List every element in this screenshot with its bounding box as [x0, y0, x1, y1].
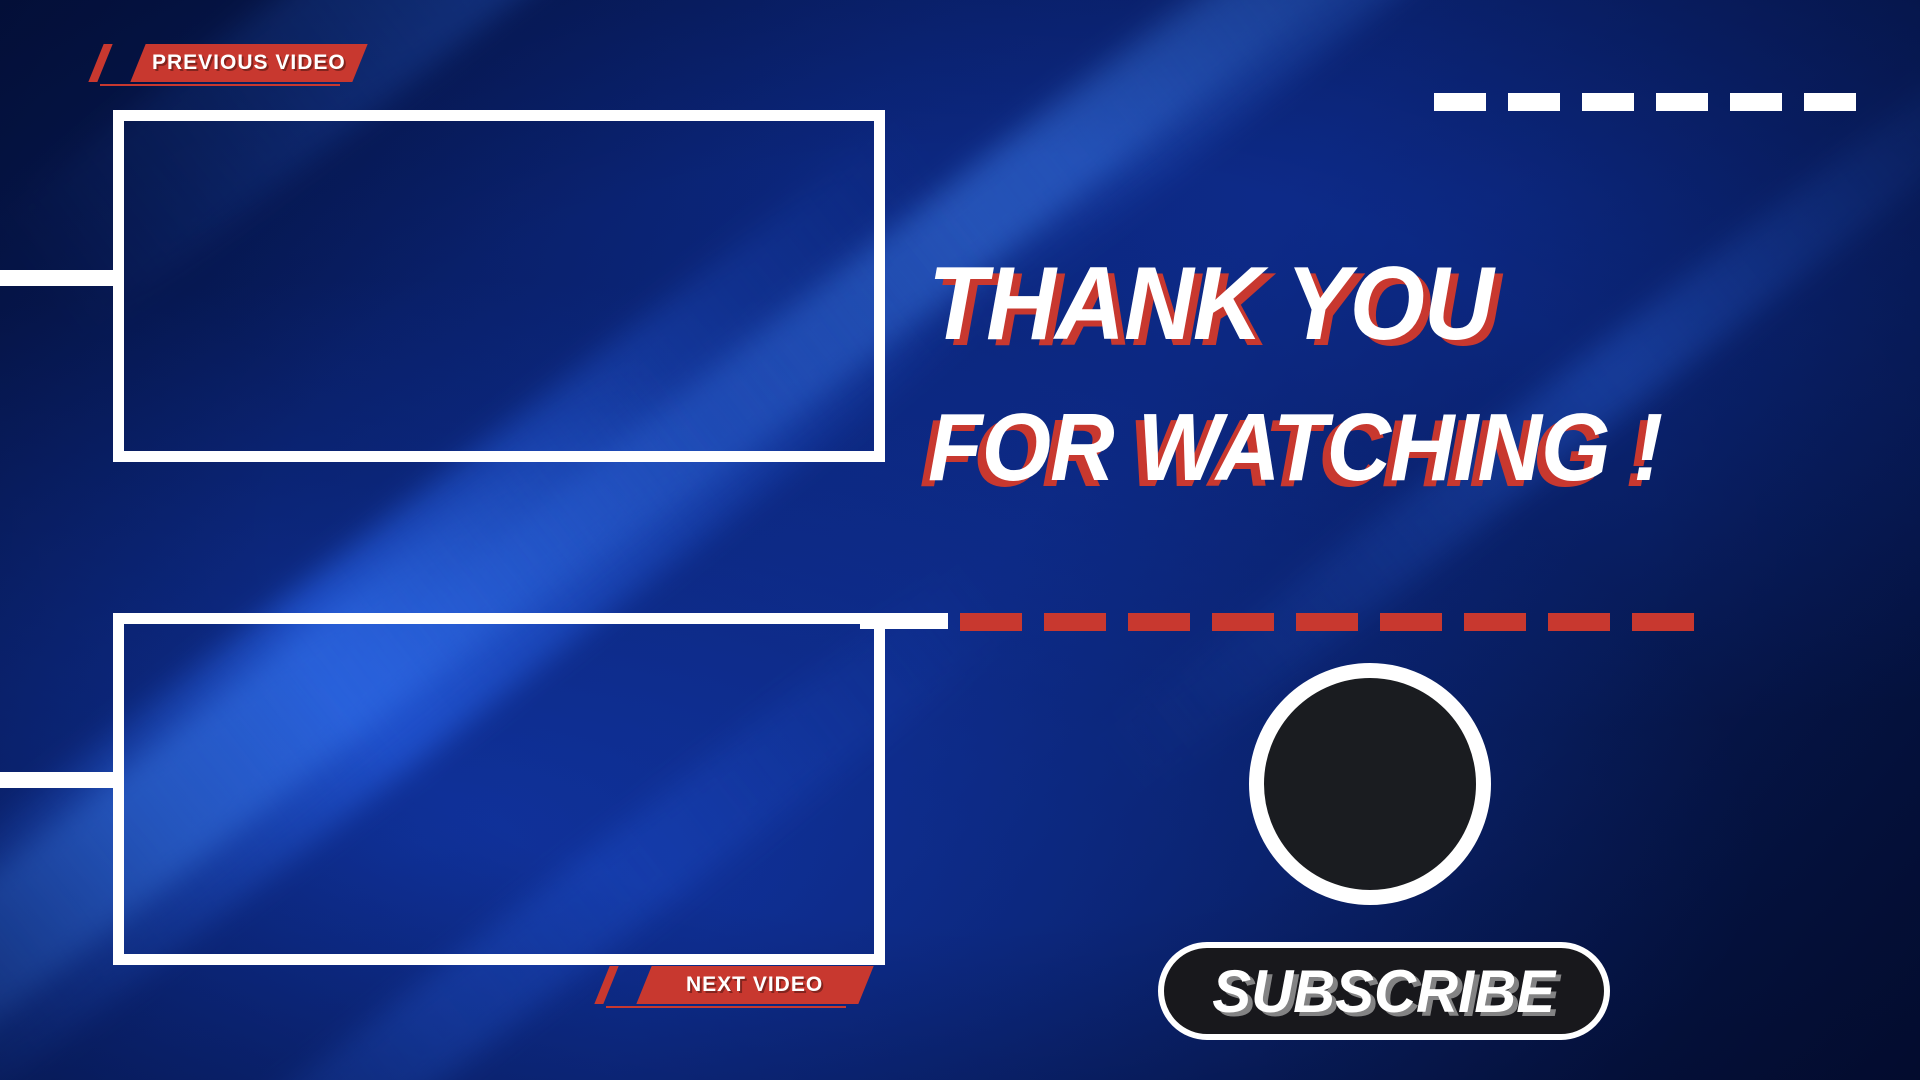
previous-video-connector-bar	[0, 270, 118, 286]
next-video-tag-underline	[606, 1006, 846, 1008]
dash-segment	[1656, 93, 1708, 111]
dash-segment	[1296, 613, 1358, 631]
dash-segment	[1730, 93, 1782, 111]
dash-segment	[960, 613, 1022, 631]
dash-segment	[1582, 93, 1634, 111]
title-line-primary: THANK YOU	[928, 252, 1765, 356]
next-video-connector-bar	[0, 772, 118, 788]
dash-segment	[1632, 613, 1694, 631]
dash-segment	[1434, 93, 1486, 111]
dash-segment	[1044, 613, 1106, 631]
channel-avatar[interactable]	[1249, 663, 1491, 905]
dash-segment	[1464, 613, 1526, 631]
endscreen-canvas: PREVIOUS VIDEO NEXT VIDEO THANK YOU	[0, 0, 1920, 1080]
dash-segment	[1128, 613, 1190, 631]
dash-segment	[1508, 93, 1560, 111]
red-dashed-rule	[960, 613, 1716, 631]
white-dashed-rule	[1434, 93, 1878, 111]
previous-video-tag-body[interactable]: PREVIOUS VIDEO	[130, 44, 367, 82]
thank-you-title-block: THANK YOU FOR WATCHING !	[928, 252, 1828, 496]
dash-segment	[1212, 613, 1274, 631]
previous-video-thumbnail-slot[interactable]	[113, 110, 885, 462]
previous-video-tag-label: PREVIOUS VIDEO	[152, 51, 346, 75]
dash-segment	[1804, 93, 1856, 111]
next-video-tag[interactable]: NEXT VIDEO	[602, 966, 866, 1004]
next-video-tag-body[interactable]: NEXT VIDEO	[636, 966, 873, 1004]
next-video-tag-label: NEXT VIDEO	[686, 973, 823, 997]
subscribe-button-label: SUBSCRIBE	[1213, 957, 1556, 1026]
previous-video-tag[interactable]: PREVIOUS VIDEO	[96, 44, 360, 82]
dash-segment	[1548, 613, 1610, 631]
title-line-secondary: FOR WATCHING !	[928, 400, 1765, 496]
dash-segment	[1380, 613, 1442, 631]
previous-video-tag-underline	[100, 84, 340, 86]
subscribe-button[interactable]: SUBSCRIBE	[1158, 942, 1610, 1040]
next-video-thumbnail-slot[interactable]	[113, 613, 885, 965]
